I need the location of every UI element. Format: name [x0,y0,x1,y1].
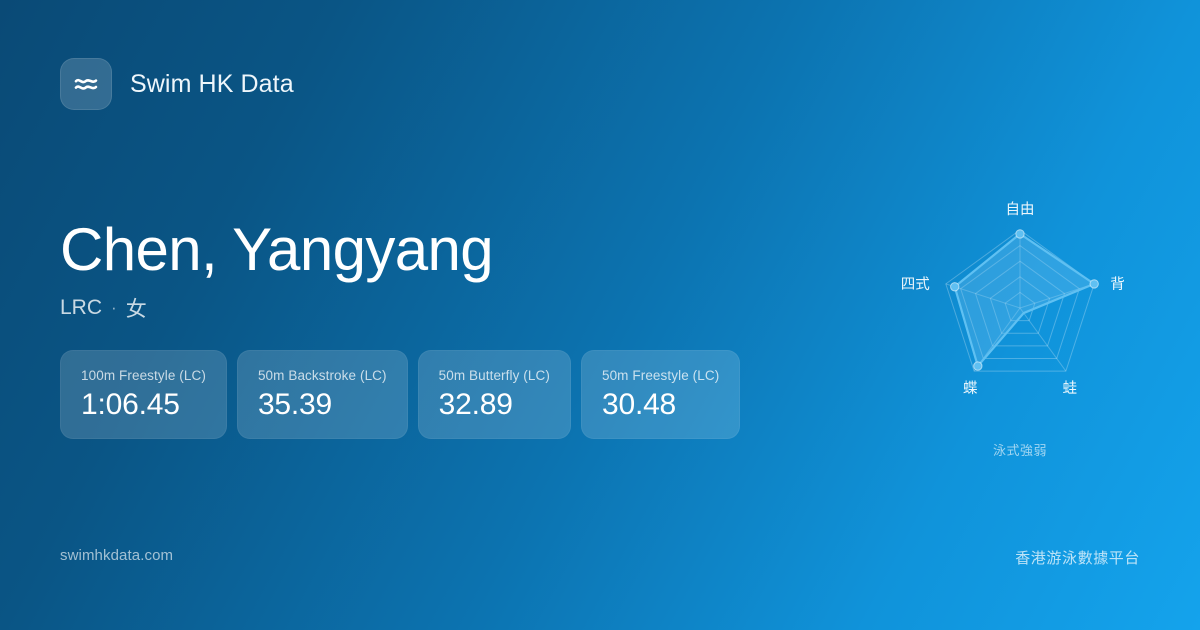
wave-icon [60,58,112,110]
athlete-gender: 女 [126,293,147,323]
radar-chart: 自由背蛙蝶四式 泳式強弱 [862,168,1178,468]
athlete-meta: LRC · 女 [60,293,493,323]
radar-caption: 泳式強弱 [862,440,1178,459]
radar-axis-label: 蝶 [963,380,978,397]
stat-value: 1:06.45 [81,388,206,422]
stat-card: 50m Freestyle (LC) 30.48 [581,350,740,439]
page-title: Chen, Yangyang [60,218,493,283]
athlete-club: LRC [60,296,102,320]
stat-label: 50m Backstroke (LC) [258,368,387,383]
stat-card: 100m Freestyle (LC) 1:06.45 [60,350,227,439]
stat-label: 50m Butterfly (LC) [439,368,550,383]
stat-value: 35.39 [258,388,387,422]
brand-name: Swim HK Data [130,70,294,99]
brand-header: Swim HK Data [60,58,294,110]
stat-card: 50m Backstroke (LC) 35.39 [237,350,408,439]
stat-label: 50m Freestyle (LC) [602,368,719,383]
footer-site: swimhkdata.com [60,547,173,564]
stat-label: 100m Freestyle (LC) [81,368,206,383]
footer-tagline: 香港游泳數據平台 [1015,547,1140,568]
radar-axis-label: 四式 [901,276,930,293]
share-card-canvas: Swim HK Data Chen, Yangyang LRC · 女 100m… [0,0,1200,630]
stat-value: 30.48 [602,388,719,422]
radar-axis-label: 自由 [1006,201,1035,218]
meta-separator: · [111,298,117,318]
radar-axis-label: 背 [1110,276,1125,293]
stat-card-row: 100m Freestyle (LC) 1:06.45 50m Backstro… [60,350,740,439]
radar-axis-label: 蛙 [1063,380,1078,397]
stat-value: 32.89 [439,388,550,422]
headline-block: Chen, Yangyang LRC · 女 [60,218,493,323]
stat-card: 50m Butterfly (LC) 32.89 [418,350,571,439]
